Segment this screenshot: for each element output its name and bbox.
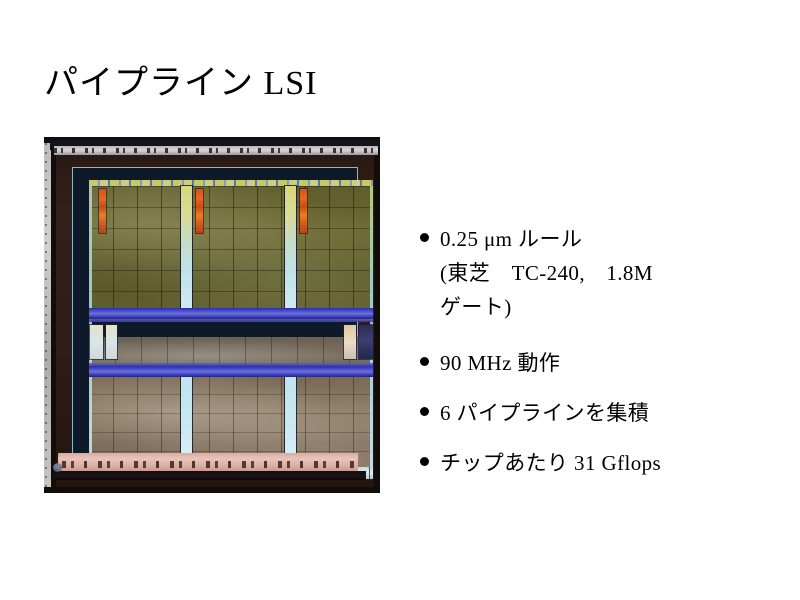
bullet-point-icon	[420, 407, 429, 416]
presentation-slide: パイプライン LSI	[0, 0, 800, 600]
bullet-text: 0.25 μm ルール (東芝 TC-240, 1.8M ゲート)	[440, 222, 760, 324]
die-marker-orange-2	[196, 189, 203, 233]
die-marker-orange-1	[99, 189, 106, 233]
die-package-frame	[56, 155, 374, 487]
list-item: 90 MHz 動作	[420, 346, 760, 380]
die-power-bus-upper	[89, 308, 373, 319]
bullet-text: 90 MHz 動作	[440, 346, 760, 380]
bullet-point-icon	[420, 457, 429, 466]
list-item: チップあたり 31 Gflops	[420, 446, 760, 480]
list-item: 0.25 μm ルール (東芝 TC-240, 1.8M ゲート)	[420, 222, 760, 324]
die-channel-upper-2	[285, 186, 296, 308]
slide-title: パイプライン LSI	[44, 63, 318, 105]
die-mid-pad-right-1	[344, 325, 356, 359]
die-left-rail	[44, 143, 51, 487]
die-active-area	[72, 167, 358, 467]
bullet-text: 6 パイプラインを集積	[440, 396, 760, 430]
bullet-point-icon	[420, 357, 429, 366]
die-substrate-bar	[58, 453, 358, 471]
die-marker-orange-3	[300, 189, 307, 233]
die-top-pad-strip	[54, 146, 378, 155]
bullet-point-icon	[420, 233, 429, 242]
list-item: 6 パイプラインを集積	[420, 396, 760, 430]
die-corner-marker	[53, 463, 62, 472]
bullet-text: チップあたり 31 Gflops	[440, 446, 760, 480]
die-array-upper	[89, 186, 373, 308]
die-mid-pad-left-1	[90, 325, 103, 359]
die-power-bus-lower	[89, 366, 373, 377]
bullet-list: 0.25 μm ルール (東芝 TC-240, 1.8M ゲート) 90 MHz…	[420, 222, 760, 496]
die-mid-pad-right-2	[359, 325, 373, 359]
die-bottom-dark-band	[54, 471, 366, 480]
die-mid-pad-left-2	[106, 325, 117, 359]
die-power-bus-thin-a	[89, 319, 373, 322]
die-channel-upper-1	[181, 186, 192, 308]
lsi-die-photo	[44, 137, 380, 493]
